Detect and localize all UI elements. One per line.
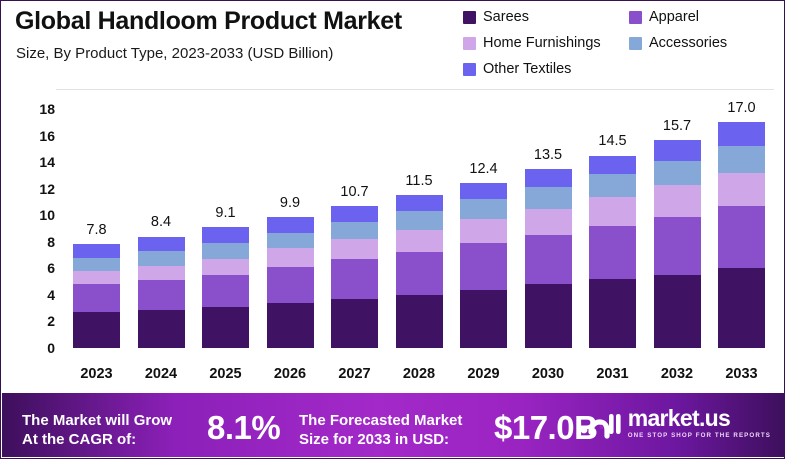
legend-label: Accessories xyxy=(649,36,727,51)
bar-segment-apparel xyxy=(460,243,507,289)
bar-segment-accessories xyxy=(331,222,378,239)
legend-swatch-icon xyxy=(629,11,642,24)
bar-segment-sarees xyxy=(331,299,378,348)
bar-segment-sarees xyxy=(589,279,636,348)
bar-segment-accessories xyxy=(460,199,507,219)
y-axis-tick: 12 xyxy=(21,181,55,197)
y-axis-tick: 2 xyxy=(21,313,55,329)
bar-segment-apparel xyxy=(718,206,765,268)
bar-segment-other-textiles xyxy=(460,183,507,199)
x-axis-tick: 2033 xyxy=(707,366,777,382)
bar-segment-home-furnishings xyxy=(73,271,120,284)
bar-segment-accessories xyxy=(396,211,443,230)
bar-segment-home-furnishings xyxy=(267,248,314,267)
bar-segment-home-furnishings xyxy=(460,219,507,243)
bar-2023[interactable] xyxy=(73,244,120,348)
x-axis-tick: 2030 xyxy=(513,366,583,382)
bar-segment-other-textiles xyxy=(718,122,765,146)
legend-item-other-textiles[interactable]: Other Textiles xyxy=(463,62,571,77)
bar-segment-home-furnishings xyxy=(589,197,636,226)
bar-segment-accessories xyxy=(267,233,314,249)
bar-segment-apparel xyxy=(525,235,572,284)
page-title: Global Handloom Product Market xyxy=(15,7,402,36)
bar-value-label: 17.0 xyxy=(707,100,777,116)
x-axis-tick: 2023 xyxy=(62,366,132,382)
bar-2033[interactable] xyxy=(718,122,765,348)
x-axis-tick: 2024 xyxy=(126,366,196,382)
y-axis-tick: 6 xyxy=(21,260,55,276)
bar-segment-accessories xyxy=(138,251,185,266)
cagr-value: 8.1% xyxy=(207,409,280,447)
forecast-caption: The Forecasted Market Size for 2033 in U… xyxy=(299,411,462,449)
x-axis-tick: 2027 xyxy=(320,366,390,382)
y-axis-tick: 0 xyxy=(21,340,55,356)
bar-segment-other-textiles xyxy=(589,156,636,175)
bar-value-label: 9.1 xyxy=(191,205,261,221)
bar-segment-apparel xyxy=(73,284,120,312)
legend-swatch-icon xyxy=(463,11,476,24)
brand-name: market.us xyxy=(628,407,771,430)
bar-segment-apparel xyxy=(654,217,701,275)
bar-segment-accessories xyxy=(654,161,701,185)
legend-label: Home Furnishings xyxy=(483,36,601,51)
bar-segment-sarees xyxy=(267,303,314,348)
bar-value-label: 11.5 xyxy=(384,173,454,189)
bar-segment-apparel xyxy=(396,252,443,294)
y-axis: 024681012141618 xyxy=(19,89,55,386)
bar-segment-sarees xyxy=(460,290,507,348)
bar-segment-sarees xyxy=(654,275,701,348)
chart-subtitle: Size, By Product Type, 2023-2033 (USD Bi… xyxy=(16,45,333,62)
cagr-caption: The Market will Grow At the CAGR of: xyxy=(22,411,172,449)
legend-item-home-furnishings[interactable]: Home Furnishings xyxy=(463,36,601,51)
legend-swatch-icon xyxy=(463,63,476,76)
bar-segment-other-textiles xyxy=(202,227,249,243)
bar-segment-home-furnishings xyxy=(654,185,701,217)
y-axis-tick: 4 xyxy=(21,287,55,303)
bar-2032[interactable] xyxy=(654,140,701,348)
bar-value-label: 8.4 xyxy=(126,214,196,230)
bar-segment-other-textiles xyxy=(267,217,314,233)
bar-segment-home-furnishings xyxy=(396,230,443,253)
bar-2030[interactable] xyxy=(525,169,572,348)
chart-legend: SareesApparelHome FurnishingsAccessories… xyxy=(463,8,773,84)
bar-segment-sarees xyxy=(138,310,185,349)
y-axis-tick: 18 xyxy=(21,101,55,117)
bar-segment-apparel xyxy=(138,280,185,309)
x-axis-line xyxy=(56,89,774,90)
bar-segment-other-textiles xyxy=(654,140,701,161)
footer-banner: The Market will Grow At the CAGR of: 8.1… xyxy=(2,393,785,457)
legend-label: Sarees xyxy=(483,10,529,25)
bar-2024[interactable] xyxy=(138,237,185,348)
bar-2028[interactable] xyxy=(396,195,443,348)
x-axis-tick: 2028 xyxy=(384,366,454,382)
bar-segment-home-furnishings xyxy=(138,266,185,281)
bar-value-label: 10.7 xyxy=(320,184,390,200)
x-axis-tick: 2026 xyxy=(255,366,325,382)
bar-segment-home-furnishings xyxy=(331,239,378,259)
bar-segment-apparel xyxy=(589,226,636,279)
bar-2031[interactable] xyxy=(589,156,636,348)
x-axis-tick: 2029 xyxy=(449,366,519,382)
legend-label: Apparel xyxy=(649,10,699,25)
bar-segment-sarees xyxy=(718,268,765,348)
bar-segment-accessories xyxy=(525,187,572,208)
bar-segment-home-furnishings xyxy=(202,259,249,275)
bar-segment-other-textiles xyxy=(138,237,185,252)
brand-tagline: ONE STOP SHOP FOR THE REPORTS xyxy=(628,433,771,439)
bar-segment-other-textiles xyxy=(73,244,120,257)
bar-segment-other-textiles xyxy=(396,195,443,211)
y-axis-tick: 16 xyxy=(21,128,55,144)
bar-segment-accessories xyxy=(202,243,249,259)
bar-segment-apparel xyxy=(202,275,249,307)
y-axis-tick: 10 xyxy=(21,207,55,223)
bar-segment-apparel xyxy=(267,267,314,303)
bar-2025[interactable] xyxy=(202,227,249,348)
bar-segment-accessories xyxy=(73,258,120,271)
bar-value-label: 14.5 xyxy=(578,133,648,149)
legend-label: Other Textiles xyxy=(483,62,571,77)
bar-segment-sarees xyxy=(396,295,443,348)
bar-segment-apparel xyxy=(331,259,378,299)
legend-swatch-icon xyxy=(629,37,642,50)
legend-item-sarees[interactable]: Sarees xyxy=(463,10,529,25)
bar-value-label: 15.7 xyxy=(642,118,712,134)
bar-segment-accessories xyxy=(589,174,636,197)
x-axis-tick: 2032 xyxy=(642,366,712,382)
bar-segment-accessories xyxy=(718,146,765,173)
brand-logo[interactable]: market.us ONE STOP SHOP FOR THE REPORTS xyxy=(579,406,771,440)
bar-value-label: 7.8 xyxy=(62,222,132,238)
bar-2026[interactable] xyxy=(267,217,314,348)
bar-segment-other-textiles xyxy=(525,169,572,188)
bar-segment-other-textiles xyxy=(331,206,378,222)
chart-plot-area: 024681012141618 7.820238.420249.120259.9… xyxy=(1,89,785,386)
market-us-logo-icon xyxy=(579,406,621,440)
legend-swatch-icon xyxy=(463,37,476,50)
bar-segment-sarees xyxy=(73,312,120,348)
bar-2029[interactable] xyxy=(460,183,507,348)
bar-2027[interactable] xyxy=(331,206,378,348)
bar-value-label: 13.5 xyxy=(513,147,583,163)
bar-segment-sarees xyxy=(202,307,249,348)
bar-segment-home-furnishings xyxy=(718,173,765,206)
x-axis-tick: 2025 xyxy=(191,366,261,382)
y-axis-tick: 14 xyxy=(21,154,55,170)
bar-value-label: 9.9 xyxy=(255,195,325,211)
chart-infographic: Global Handloom Product Market Size, By … xyxy=(0,0,785,459)
legend-item-accessories[interactable]: Accessories xyxy=(629,36,727,51)
y-axis-tick: 8 xyxy=(21,234,55,250)
legend-item-apparel[interactable]: Apparel xyxy=(629,10,699,25)
x-axis-tick: 2031 xyxy=(578,366,648,382)
bar-segment-home-furnishings xyxy=(525,209,572,236)
bar-segment-sarees xyxy=(525,284,572,348)
bar-value-label: 12.4 xyxy=(449,161,519,177)
